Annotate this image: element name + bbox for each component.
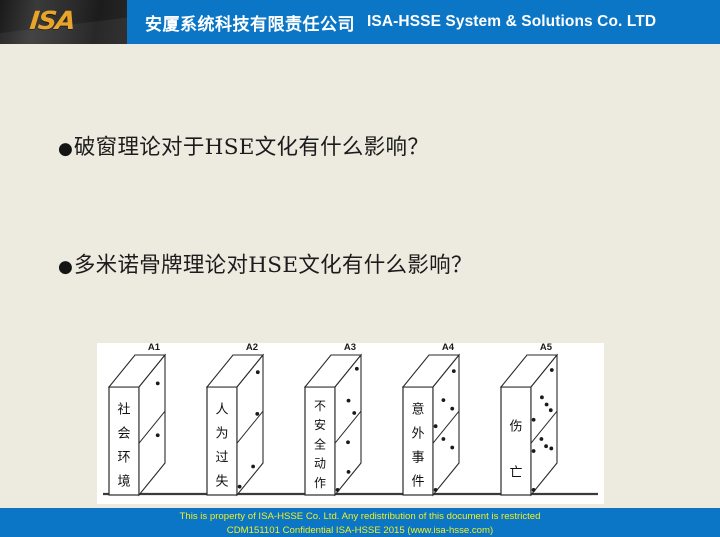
domino-caption-char: 外 — [411, 427, 424, 442]
domino-pip — [355, 367, 359, 371]
domino-pip — [255, 412, 259, 416]
domino-label-a3: A3 — [344, 343, 356, 353]
header-title-bar: 安厦系统科技有限责任公司 ISA-HSSE System & Solutions… — [127, 0, 720, 44]
domino-a5: A5伤亡 — [501, 343, 557, 495]
company-name-chinese: 安厦系统科技有限责任公司 — [145, 10, 355, 35]
domino-pip — [434, 424, 438, 428]
domino-pip — [336, 488, 340, 492]
domino-label-a2: A2 — [246, 343, 258, 353]
slide-header: ISA 安厦系统科技有限责任公司 ISA-HSSE System & Solut… — [0, 0, 720, 44]
domino-pip — [550, 368, 554, 372]
slide-body: ● 破窗理论对于HSE文化有什么影响？ ● 多米诺骨牌理论对HSE文化有什么影响… — [0, 44, 720, 508]
domino-a2: A2人为过失 — [207, 343, 263, 495]
bullet-text-1: 破窗理论对于HSE文化有什么影响？ — [74, 130, 429, 161]
domino-caption-char: 社 — [117, 402, 130, 418]
domino-label-a1: A1 — [148, 343, 161, 353]
domino-a4: A4意外事件 — [403, 343, 459, 495]
domino-pip — [532, 418, 536, 422]
domino-caption-char: 伤 — [509, 420, 522, 435]
isa-logo: ISA — [29, 8, 76, 33]
domino-caption-char: 作 — [314, 476, 326, 490]
domino-caption-char: 件 — [411, 475, 424, 490]
domino-pip — [452, 369, 456, 373]
bullet-item-1: ● 破窗理论对于HSE文化有什么影响？ — [58, 130, 429, 161]
domino-pip — [238, 485, 242, 489]
domino-pip — [442, 437, 446, 441]
domino-caption-char: 安 — [314, 417, 326, 432]
domino-a1: A1社会环境 — [109, 343, 165, 495]
domino-caption-char: 意 — [411, 402, 424, 418]
domino-caption-char: 为 — [215, 427, 228, 442]
domino-pip — [256, 370, 260, 374]
domino-caption-char: 环 — [117, 451, 130, 466]
logo-panel: ISA — [0, 0, 127, 44]
domino-caption-char: 会 — [117, 427, 130, 442]
domino-pip — [532, 488, 536, 492]
domino-pip — [450, 407, 454, 411]
domino-diagram-svg: A1社会环境A2人为过失A3不安全动作A4意外事件A5伤亡 — [97, 343, 604, 504]
domino-pip — [549, 408, 553, 412]
bullet-marker-icon: ● — [58, 259, 73, 276]
domino-pip — [544, 444, 548, 448]
domino-pip — [352, 411, 356, 415]
domino-pip — [532, 449, 536, 453]
domino-pip — [346, 440, 350, 444]
domino-pip — [434, 488, 438, 492]
bullet-item-2: ● 多米诺骨牌理论对HSE文化有什么影响？ — [58, 248, 473, 279]
domino-caption-char: 不 — [314, 399, 326, 413]
domino-pip — [540, 395, 544, 399]
domino-pip — [545, 403, 549, 407]
domino-caption-char: 事 — [411, 451, 424, 466]
footer-copyright-line: This is property of ISA-HSSE Co. Ltd. An… — [0, 510, 720, 524]
domino-pip — [347, 470, 351, 474]
domino-caption-char: 境 — [117, 475, 130, 490]
domino-pip — [347, 399, 351, 403]
domino-caption-char: 失 — [215, 475, 228, 490]
domino-pip — [442, 398, 446, 402]
bullet-text-2: 多米诺骨牌理论对HSE文化有什么影响？ — [74, 248, 473, 279]
domino-caption-char: 过 — [215, 451, 228, 466]
domino-a3: A3不安全动作 — [305, 343, 361, 495]
slide-footer: This is property of ISA-HSSE Co. Ltd. An… — [0, 508, 720, 537]
domino-label-a5: A5 — [540, 343, 553, 353]
bullet-marker-icon: ● — [58, 141, 73, 158]
domino-pip — [540, 437, 544, 441]
domino-pip — [251, 465, 255, 469]
domino-pip — [549, 447, 553, 451]
domino-pip — [156, 382, 160, 386]
company-name-english: ISA-HSSE System & Solutions Co. LTD — [367, 13, 656, 31]
domino-caption-char: 动 — [314, 457, 326, 471]
domino-caption-char: 亡 — [509, 465, 522, 480]
domino-theory-image: A1社会环境A2人为过失A3不安全动作A4意外事件A5伤亡 — [97, 343, 604, 504]
domino-pip — [156, 433, 160, 437]
domino-caption-char: 全 — [314, 436, 326, 451]
domino-pip — [450, 446, 454, 450]
domino-label-a4: A4 — [442, 343, 455, 353]
domino-caption-char: 人 — [215, 403, 228, 418]
footer-document-line: CDM151101 Confidential ISA-HSSE 2015 (ww… — [0, 524, 720, 537]
